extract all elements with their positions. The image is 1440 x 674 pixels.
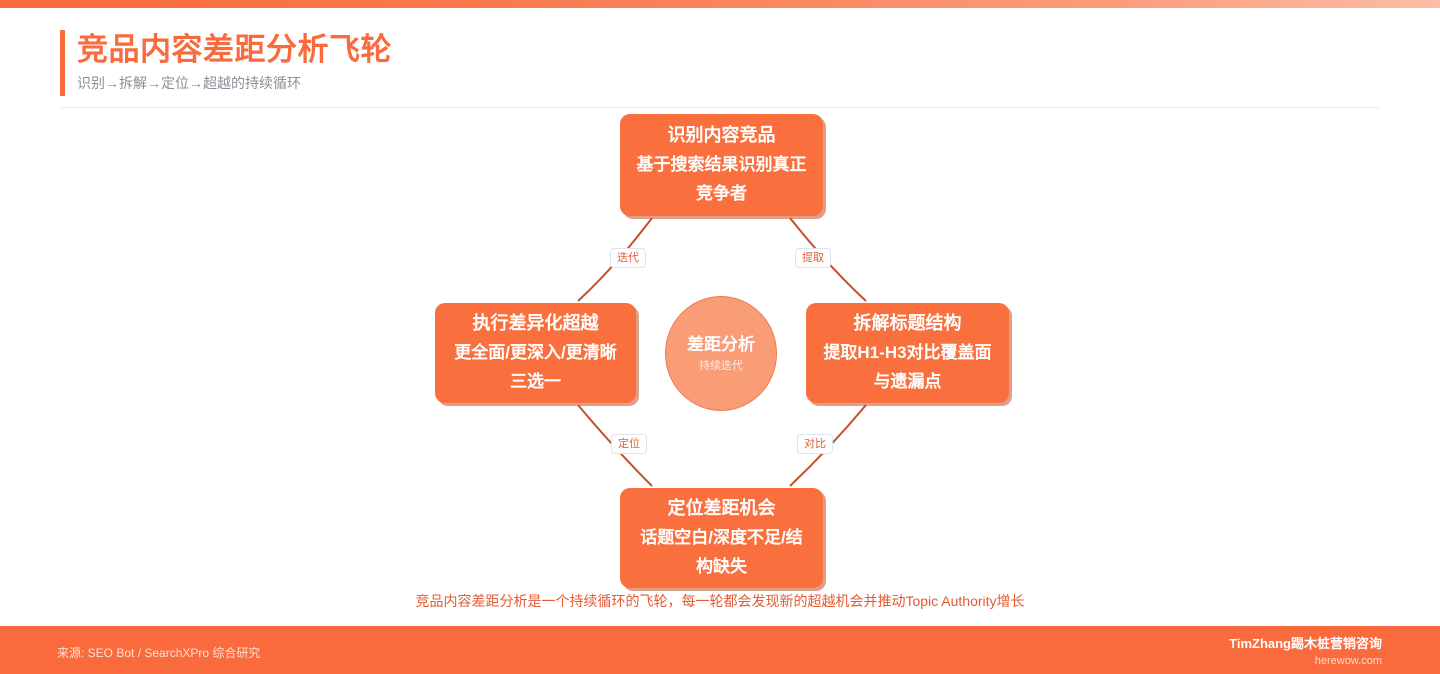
node-title: 执行差异化超越 <box>473 308 599 338</box>
page-title: 竞品内容差距分析飞轮 <box>77 28 392 72</box>
footer: 来源: SEO Bot / SearchXPro 综合研究 TimZhang踢木… <box>0 626 1440 674</box>
node-desc: 提取H1-H3对比覆盖面与遗漏点 <box>818 338 997 396</box>
center-node-subtitle: 持续迭代 <box>699 357 743 375</box>
top-accent-bar <box>0 0 1440 8</box>
footer-source: 来源: SEO Bot / SearchXPro 综合研究 <box>57 645 260 661</box>
center-node-title: 差距分析 <box>687 333 755 357</box>
node-title: 拆解标题结构 <box>854 308 962 338</box>
node-execute-differentiation[interactable]: 执行差异化超越 更全面/更深入/更清晰三选一 <box>435 303 636 403</box>
node-decompose-headings[interactable]: 拆解标题结构 提取H1-H3对比覆盖面与遗漏点 <box>806 303 1009 403</box>
edge-label-extract: 提取 <box>795 248 831 268</box>
node-locate-gap-opportunities[interactable]: 定位差距机会 话题空白/深度不足/结构缺失 <box>620 488 823 588</box>
edge-label-locate: 定位 <box>611 434 647 454</box>
footer-brand: TimZhang踢木桩营销咨询 herewow.com <box>1229 634 1382 669</box>
node-desc: 更全面/更深入/更清晰三选一 <box>447 338 624 396</box>
page-subtitle: 识别→拆解→定位→超越的持续循环 <box>77 72 392 94</box>
diagram-caption: 竞品内容差距分析是一个持续循环的飞轮，每一轮都会发现新的超越机会并推动Topic… <box>0 590 1440 612</box>
center-node-gap-analysis[interactable]: 差距分析 持续迭代 <box>665 296 777 411</box>
node-identify-competitors[interactable]: 识别内容竞品 基于搜索结果识别真正竞争者 <box>620 114 823 216</box>
node-title: 识别内容竞品 <box>668 120 776 150</box>
edge-label-compare: 对比 <box>797 434 833 454</box>
flywheel-diagram: 识别内容竞品 基于搜索结果识别真正竞争者 拆解标题结构 提取H1-H3对比覆盖面… <box>0 108 1440 608</box>
edge-label-iterate: 迭代 <box>610 248 646 268</box>
header-accent-bar <box>60 30 65 96</box>
node-title: 定位差距机会 <box>668 493 776 523</box>
footer-brand-site: herewow.com <box>1229 653 1382 669</box>
header: 竞品内容差距分析飞轮 识别→拆解→定位→超越的持续循环 <box>60 28 1380 100</box>
node-desc: 话题空白/深度不足/结构缺失 <box>632 523 811 581</box>
header-text-group: 竞品内容差距分析飞轮 识别→拆解→定位→超越的持续循环 <box>77 28 392 94</box>
footer-brand-name: TimZhang踢木桩营销咨询 <box>1229 634 1382 653</box>
node-desc: 基于搜索结果识别真正竞争者 <box>632 150 811 208</box>
